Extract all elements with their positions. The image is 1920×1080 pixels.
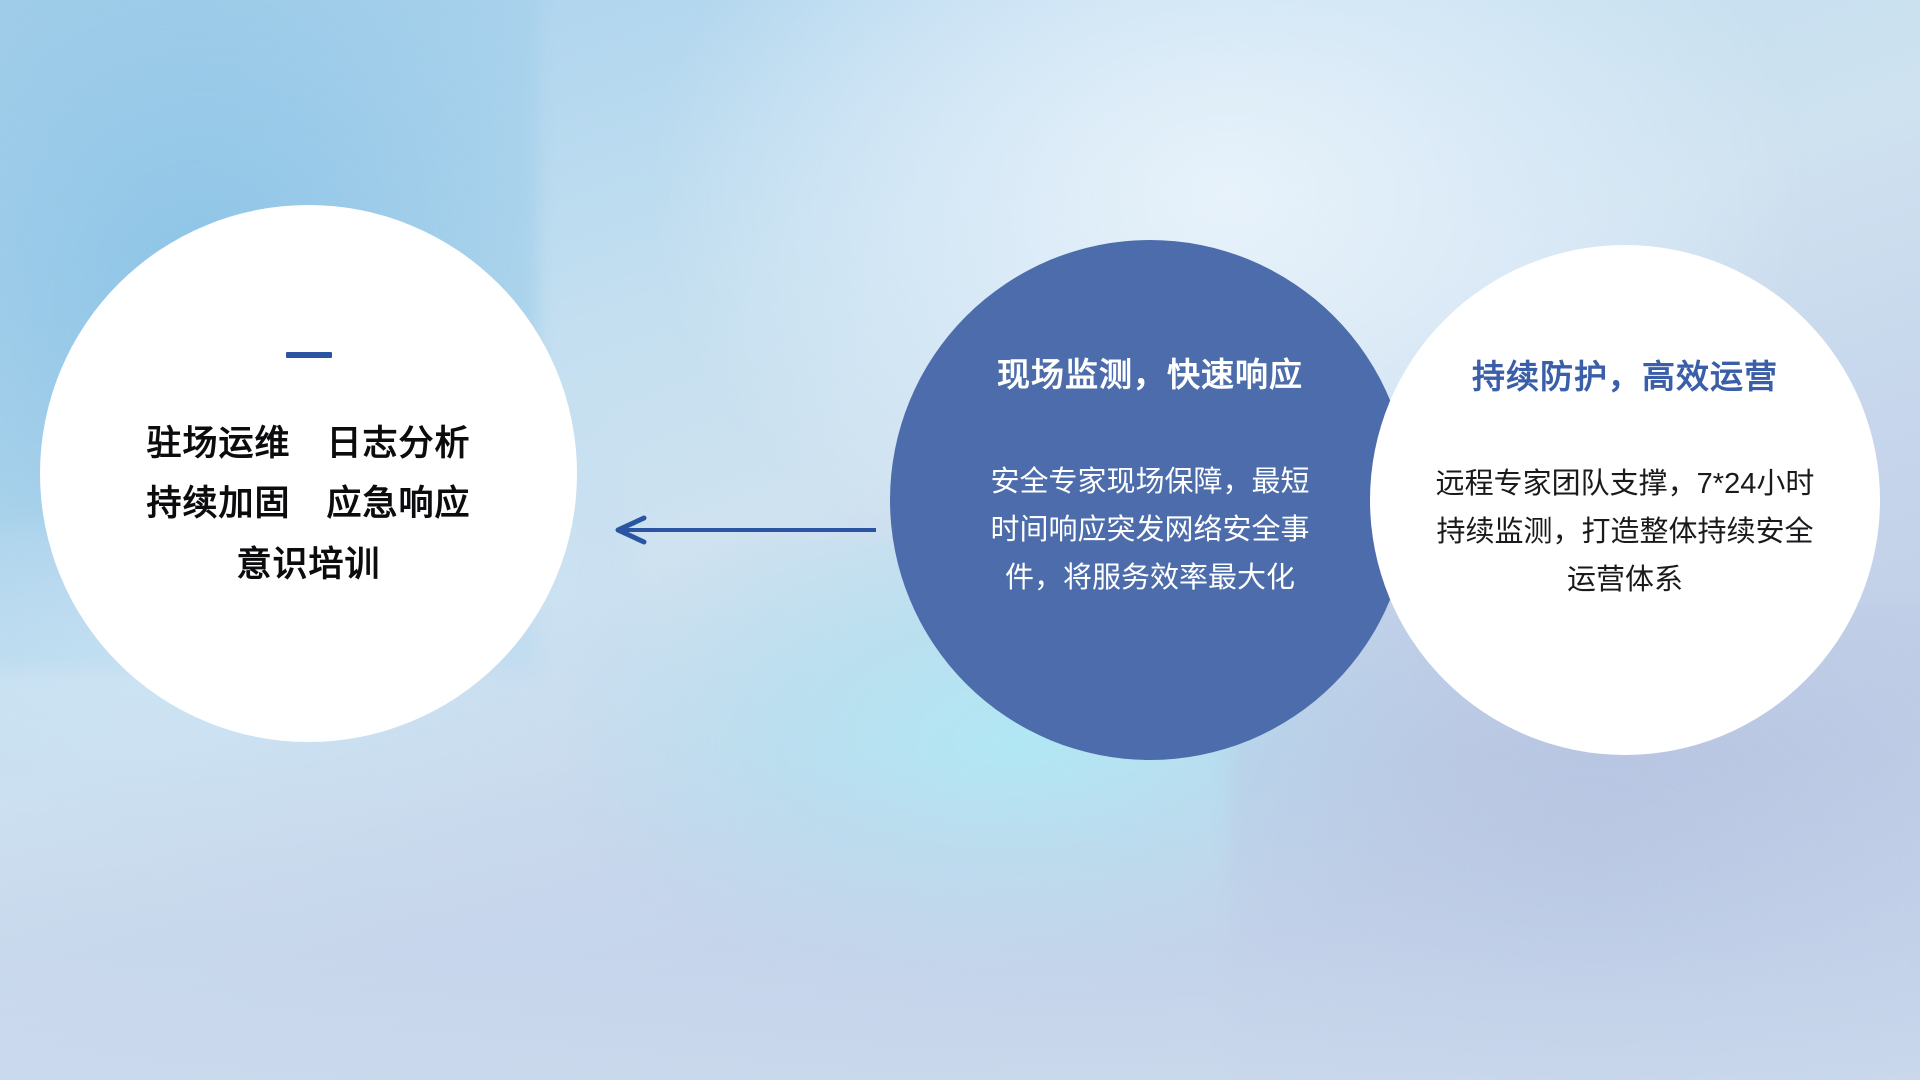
feature-circle-onsite[interactable]: 现场监测，快速响应 安全专家现场保障，最短时间响应突发网络安全事件，将服务效率最… — [890, 240, 1410, 760]
feature-body-onsite: 安全专家现场保障，最短时间响应突发网络安全事件，将服务效率最大化 — [990, 458, 1310, 602]
capability-line-1: 驻场运维 日志分析 — [146, 414, 470, 474]
connector-arrow-left — [600, 510, 880, 555]
capability-line-3: 意识培训 — [146, 535, 470, 595]
feature-body-continuous: 远程专家团队支撑，7*24小时持续监测，打造整体持续安全运营体系 — [1435, 460, 1815, 604]
divider-dash — [286, 352, 332, 358]
capability-line-2: 持续加固 应急响应 — [146, 474, 470, 534]
slide-canvas: 驻场运维 日志分析 持续加固 应急响应 意识培训 现场监测，快速响应 安全专家现… — [0, 0, 1920, 1080]
arrow-left-icon — [600, 510, 880, 550]
feature-circle-continuous[interactable]: 持续防护，高效运营 远程专家团队支撑，7*24小时持续监测，打造整体持续安全运营… — [1370, 245, 1880, 755]
capability-list: 驻场运维 日志分析 持续加固 应急响应 意识培训 — [146, 414, 470, 595]
capability-circle-left[interactable]: 驻场运维 日志分析 持续加固 应急响应 意识培训 — [40, 205, 577, 742]
feature-title-onsite: 现场监测，快速响应 — [997, 348, 1303, 396]
background-bottom-fade — [0, 756, 1920, 1080]
feature-title-continuous: 持续防护，高效运营 — [1472, 350, 1778, 398]
